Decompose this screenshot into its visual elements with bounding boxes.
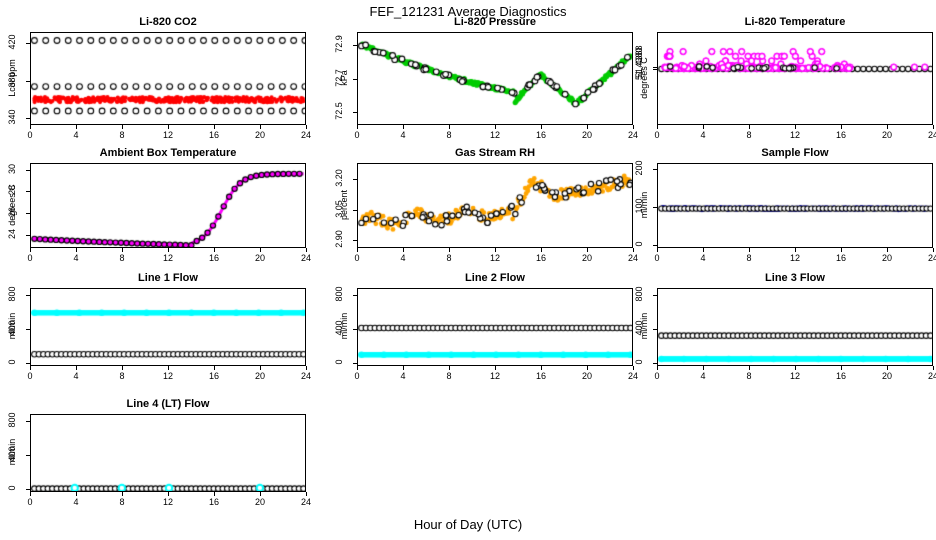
x-tick-label: 20 xyxy=(875,371,899,381)
x-tick-label: 8 xyxy=(737,130,761,140)
plot-area-line-1-flow xyxy=(30,288,306,366)
x-tick-label: 16 xyxy=(202,253,226,263)
data-points-line-3-flow xyxy=(658,289,933,366)
x-tick-label: 12 xyxy=(483,371,507,381)
y-tick-label: 340 xyxy=(7,105,17,129)
y-tickmark xyxy=(353,179,357,180)
x-tickmark xyxy=(76,492,77,496)
x-tickmark xyxy=(541,248,542,252)
chart-title-li-820-pressure: Li-820 Pressure xyxy=(357,16,633,28)
x-tickmark xyxy=(168,366,169,370)
x-tick-label: 24 xyxy=(294,130,318,140)
y-axis-label-li-820-pressure: kPa xyxy=(339,48,349,108)
x-tick-label: 4 xyxy=(64,130,88,140)
y-axis-label-line-4-lt-flow: ml/min xyxy=(7,422,17,482)
data-points-line-4-lt-flow xyxy=(31,415,306,492)
x-tick-label: 8 xyxy=(437,130,461,140)
y-tickmark xyxy=(653,69,657,70)
x-tickmark xyxy=(841,125,842,129)
x-tick-label: 8 xyxy=(737,371,761,381)
x-tickmark xyxy=(122,125,123,129)
x-tickmark xyxy=(306,248,307,252)
x-tick-label: 4 xyxy=(391,130,415,140)
x-tick-label: 20 xyxy=(248,371,272,381)
x-tickmark xyxy=(76,248,77,252)
y-axis-label-li-820-temperature: degrees C xyxy=(639,48,649,108)
y-tickmark xyxy=(653,363,657,364)
x-tickmark xyxy=(541,366,542,370)
x-tickmark xyxy=(587,248,588,252)
x-tickmark xyxy=(30,366,31,370)
x-tick-label: 0 xyxy=(18,497,42,507)
y-axis-label-line-2-flow: ml/min xyxy=(339,296,349,356)
x-tick-label: 24 xyxy=(921,253,936,263)
x-tick-label: 0 xyxy=(645,253,669,263)
x-tickmark xyxy=(30,492,31,496)
data-points-li-820-pressure xyxy=(358,33,633,125)
x-tickmark xyxy=(887,366,888,370)
y-tickmark xyxy=(26,43,30,44)
x-tickmark xyxy=(657,366,658,370)
x-tickmark xyxy=(403,248,404,252)
x-tickmark xyxy=(749,366,750,370)
y-tickmark xyxy=(353,45,357,46)
x-tick-label: 20 xyxy=(875,130,899,140)
x-tickmark xyxy=(214,248,215,252)
x-tickmark xyxy=(587,366,588,370)
x-tickmark xyxy=(633,125,634,129)
y-tickmark xyxy=(26,295,30,296)
x-tick-label: 0 xyxy=(18,253,42,263)
x-tickmark xyxy=(122,492,123,496)
x-tick-label: 4 xyxy=(691,253,715,263)
plot-area-ambient-box-temperature xyxy=(30,163,306,248)
x-tickmark xyxy=(76,125,77,129)
x-tick-label: 20 xyxy=(575,371,599,381)
x-tick-label: 24 xyxy=(921,130,936,140)
x-tickmark xyxy=(449,366,450,370)
x-tickmark xyxy=(30,248,31,252)
x-tick-label: 16 xyxy=(202,371,226,381)
data-points-ambient-box-temperature xyxy=(31,164,306,248)
x-tickmark xyxy=(795,125,796,129)
x-tickmark xyxy=(749,248,750,252)
x-tick-label: 12 xyxy=(156,371,180,381)
x-tickmark xyxy=(168,492,169,496)
x-tickmark xyxy=(657,125,658,129)
x-tick-label: 24 xyxy=(294,497,318,507)
data-points-gas-stream-rh xyxy=(358,164,633,248)
x-tick-label: 8 xyxy=(437,253,461,263)
x-tick-label: 16 xyxy=(829,371,853,381)
x-tickmark xyxy=(214,366,215,370)
plot-area-li-820-co2 xyxy=(30,32,306,125)
y-tickmark xyxy=(653,295,657,296)
chart-title-gas-stream-rh: Gas Stream RH xyxy=(357,147,633,159)
data-points-line-2-flow xyxy=(358,289,633,366)
x-tick-label: 8 xyxy=(110,253,134,263)
y-axis-label-li-820-co2: Lcor ppm xyxy=(7,48,17,108)
x-tickmark xyxy=(933,248,934,252)
y-tickmark xyxy=(26,235,30,236)
x-tickmark xyxy=(30,125,31,129)
x-tickmark xyxy=(76,366,77,370)
y-tickmark xyxy=(353,210,357,211)
y-tickmark xyxy=(26,421,30,422)
x-axis-title: Hour of Day (UTC) xyxy=(0,517,936,532)
x-tick-label: 4 xyxy=(691,130,715,140)
x-tickmark xyxy=(703,248,704,252)
x-tick-label: 0 xyxy=(645,371,669,381)
y-tickmark xyxy=(653,169,657,170)
x-tickmark xyxy=(541,125,542,129)
plot-area-li-820-temperature xyxy=(657,32,933,125)
x-tick-label: 8 xyxy=(110,130,134,140)
chart-title-line-3-flow: Line 3 Flow xyxy=(657,272,933,284)
chart-title-line-1-flow: Line 1 Flow xyxy=(30,272,306,284)
x-tickmark xyxy=(306,366,307,370)
y-tickmark xyxy=(26,81,30,82)
x-tickmark xyxy=(168,125,169,129)
x-tickmark xyxy=(795,366,796,370)
x-tickmark xyxy=(306,492,307,496)
x-tickmark xyxy=(122,248,123,252)
x-tickmark xyxy=(841,366,842,370)
x-tick-label: 12 xyxy=(783,253,807,263)
x-tickmark xyxy=(214,125,215,129)
chart-title-li-820-co2: Li-820 CO2 xyxy=(30,16,306,28)
y-tick-label: 0 xyxy=(634,232,644,256)
x-tickmark xyxy=(357,366,358,370)
chart-title-ambient-box-temperature: Ambient Box Temperature xyxy=(30,147,306,159)
x-tick-label: 0 xyxy=(645,130,669,140)
x-tick-label: 24 xyxy=(294,371,318,381)
x-tickmark xyxy=(887,125,888,129)
x-tickmark xyxy=(260,492,261,496)
x-tick-label: 4 xyxy=(391,253,415,263)
x-tick-label: 0 xyxy=(345,253,369,263)
x-tickmark xyxy=(495,125,496,129)
x-tick-label: 12 xyxy=(783,371,807,381)
x-tick-label: 8 xyxy=(110,497,134,507)
x-tick-label: 4 xyxy=(64,497,88,507)
plot-area-li-820-pressure xyxy=(357,32,633,125)
y-tickmark xyxy=(26,170,30,171)
y-tickmark xyxy=(26,191,30,192)
x-tick-label: 16 xyxy=(529,371,553,381)
x-tickmark xyxy=(260,366,261,370)
x-tickmark xyxy=(703,366,704,370)
x-tick-label: 8 xyxy=(437,371,461,381)
y-axis-label-line-3-flow: ml/min xyxy=(639,296,649,356)
x-tickmark xyxy=(403,125,404,129)
x-tickmark xyxy=(703,125,704,129)
y-axis-label-gas-stream-rh: percent xyxy=(339,175,349,235)
x-tick-label: 12 xyxy=(156,253,180,263)
data-points-li-820-co2 xyxy=(31,33,306,125)
x-tick-label: 4 xyxy=(64,253,88,263)
chart-title-li-820-temperature: Li-820 Temperature xyxy=(657,16,933,28)
x-tickmark xyxy=(357,125,358,129)
x-tick-label: 20 xyxy=(248,497,272,507)
x-tickmark xyxy=(749,125,750,129)
y-tickmark xyxy=(353,363,357,364)
x-tickmark xyxy=(357,248,358,252)
x-tick-label: 16 xyxy=(829,253,853,263)
plot-area-line-4-lt-flow xyxy=(30,414,306,492)
x-tickmark xyxy=(587,125,588,129)
plot-area-sample-flow xyxy=(657,163,933,248)
x-tick-label: 0 xyxy=(345,130,369,140)
x-tick-label: 4 xyxy=(691,371,715,381)
chart-title-line-4-lt-flow: Line 4 (LT) Flow xyxy=(30,398,306,410)
x-tickmark xyxy=(214,492,215,496)
x-tick-label: 8 xyxy=(737,253,761,263)
x-tick-label: 12 xyxy=(783,130,807,140)
x-tickmark xyxy=(168,248,169,252)
y-axis-label-line-1-flow: ml/min xyxy=(7,296,17,356)
y-axis-label-ambient-box-temperature: degrees C xyxy=(7,175,17,235)
x-tick-label: 16 xyxy=(529,253,553,263)
x-tick-label: 12 xyxy=(483,130,507,140)
x-tick-label: 0 xyxy=(18,130,42,140)
x-tick-label: 24 xyxy=(621,130,645,140)
y-axis-label-sample-flow: ml/min xyxy=(639,175,649,235)
y-tickmark xyxy=(653,67,657,68)
x-tickmark xyxy=(449,248,450,252)
x-tickmark xyxy=(403,366,404,370)
x-tick-label: 0 xyxy=(18,371,42,381)
x-tickmark xyxy=(887,248,888,252)
x-tick-label: 12 xyxy=(156,497,180,507)
x-tickmark xyxy=(260,125,261,129)
plot-area-line-3-flow xyxy=(657,288,933,366)
y-tickmark xyxy=(26,455,30,456)
y-tickmark xyxy=(653,245,657,246)
plot-area-gas-stream-rh xyxy=(357,163,633,248)
x-tick-label: 8 xyxy=(110,371,134,381)
x-tick-label: 16 xyxy=(202,130,226,140)
y-tickmark xyxy=(353,240,357,241)
chart-title-sample-flow: Sample Flow xyxy=(657,147,933,159)
x-tickmark xyxy=(841,248,842,252)
y-tickmark xyxy=(26,118,30,119)
y-tickmark xyxy=(26,489,30,490)
x-tick-label: 20 xyxy=(248,253,272,263)
x-tick-label: 20 xyxy=(575,253,599,263)
x-tick-label: 12 xyxy=(483,253,507,263)
y-tickmark xyxy=(353,79,357,80)
x-tick-label: 16 xyxy=(829,130,853,140)
x-tick-label: 16 xyxy=(202,497,226,507)
y-tickmark xyxy=(353,295,357,296)
data-points-li-820-temperature xyxy=(658,33,933,125)
x-tickmark xyxy=(449,125,450,129)
x-tickmark xyxy=(495,366,496,370)
x-tick-label: 4 xyxy=(391,371,415,381)
x-tick-label: 24 xyxy=(921,371,936,381)
x-tick-label: 0 xyxy=(345,371,369,381)
x-tickmark xyxy=(933,125,934,129)
y-tickmark xyxy=(26,213,30,214)
y-tickmark xyxy=(653,329,657,330)
chart-title-line-2-flow: Line 2 Flow xyxy=(357,272,633,284)
x-tickmark xyxy=(495,248,496,252)
x-tick-label: 12 xyxy=(156,130,180,140)
x-tickmark xyxy=(657,248,658,252)
y-tickmark xyxy=(26,329,30,330)
x-tickmark xyxy=(795,248,796,252)
data-points-sample-flow xyxy=(658,164,933,248)
y-tickmark xyxy=(353,329,357,330)
x-tick-label: 16 xyxy=(529,130,553,140)
x-tickmark xyxy=(260,248,261,252)
y-tickmark xyxy=(353,112,357,113)
x-tick-label: 24 xyxy=(294,253,318,263)
x-tick-label: 20 xyxy=(248,130,272,140)
x-tickmark xyxy=(122,366,123,370)
x-tick-label: 20 xyxy=(575,130,599,140)
x-tickmark xyxy=(306,125,307,129)
y-tickmark xyxy=(26,363,30,364)
x-tick-label: 20 xyxy=(875,253,899,263)
x-tick-label: 4 xyxy=(64,371,88,381)
y-tickmark xyxy=(653,207,657,208)
data-points-line-1-flow xyxy=(31,289,306,366)
x-tickmark xyxy=(933,366,934,370)
plot-area-line-2-flow xyxy=(357,288,633,366)
